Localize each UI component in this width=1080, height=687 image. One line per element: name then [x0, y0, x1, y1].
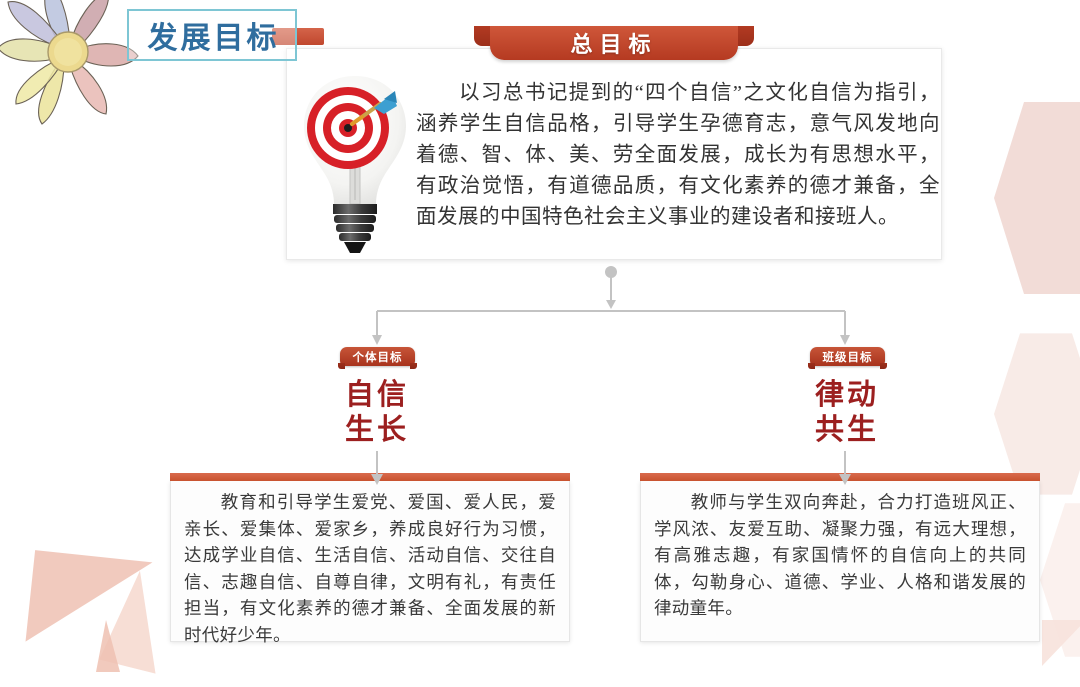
main-goal-banner-label: 总目标	[490, 26, 738, 60]
branch-description-class: 教师与学生双向奔赴，合力打造班风正、学风浓、友爱互助、凝聚力强，有远大理想，有高…	[654, 489, 1026, 622]
branch-description-individual: 教育和引导学生爱党、爱国、爱人民，爱亲长、爱集体、爱家乡，养成良好行为习惯，达成…	[184, 489, 556, 648]
triangle-decoration-corner	[1042, 620, 1080, 666]
triangle-decoration-medium	[99, 566, 179, 673]
slide-canvas: 发展目标 总目标	[0, 0, 1080, 687]
branch-heading-individual-line1: 自信	[277, 377, 477, 412]
lightbulb-target-icon	[296, 72, 414, 257]
branch-heading-class-line2: 共生	[747, 412, 947, 447]
triangle-decoration-large	[26, 550, 153, 654]
watercolor-flower-icon	[0, 0, 144, 126]
triangle-decoration-small	[96, 620, 120, 672]
page-title: 发展目标	[131, 13, 296, 57]
branch-heading-class: 律动 共生	[747, 377, 947, 447]
main-goal-body: 以习总书记提到的“四个自信”之文化自信为指引，涵养学生自信品格，引导学生孕德育志…	[416, 78, 940, 256]
branch-heading-class-line1: 律动	[747, 377, 947, 412]
branch-pill-class: 班级目标	[810, 347, 885, 366]
hexagon-decoration-bottom-right	[1040, 500, 1080, 660]
branch-heading-individual: 自信 生长	[277, 377, 477, 447]
connector-diagram	[0, 255, 1080, 495]
branch-pill-individual: 个体目标	[340, 347, 415, 366]
branch-heading-individual-line2: 生长	[277, 412, 477, 447]
